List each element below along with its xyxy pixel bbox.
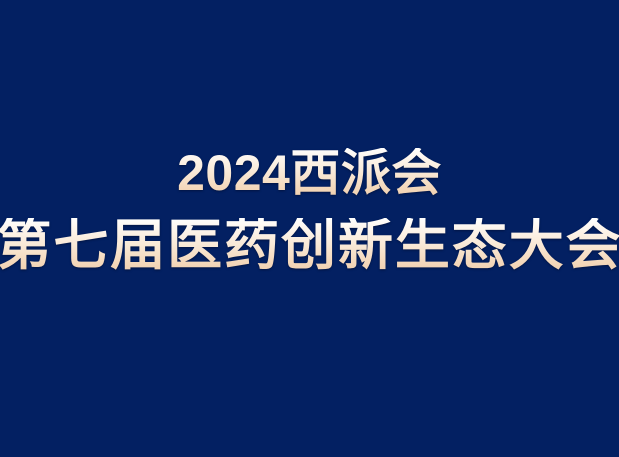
event-title-card: 2024西派会 第七届医药创新生态大会 xyxy=(0,0,619,457)
event-title-secondary: 第七届医药创新生态大会 xyxy=(0,218,619,273)
title-stack: 2024西派会 第七届医药创新生态大会 xyxy=(0,148,619,273)
event-title-primary: 2024西派会 xyxy=(177,148,442,198)
